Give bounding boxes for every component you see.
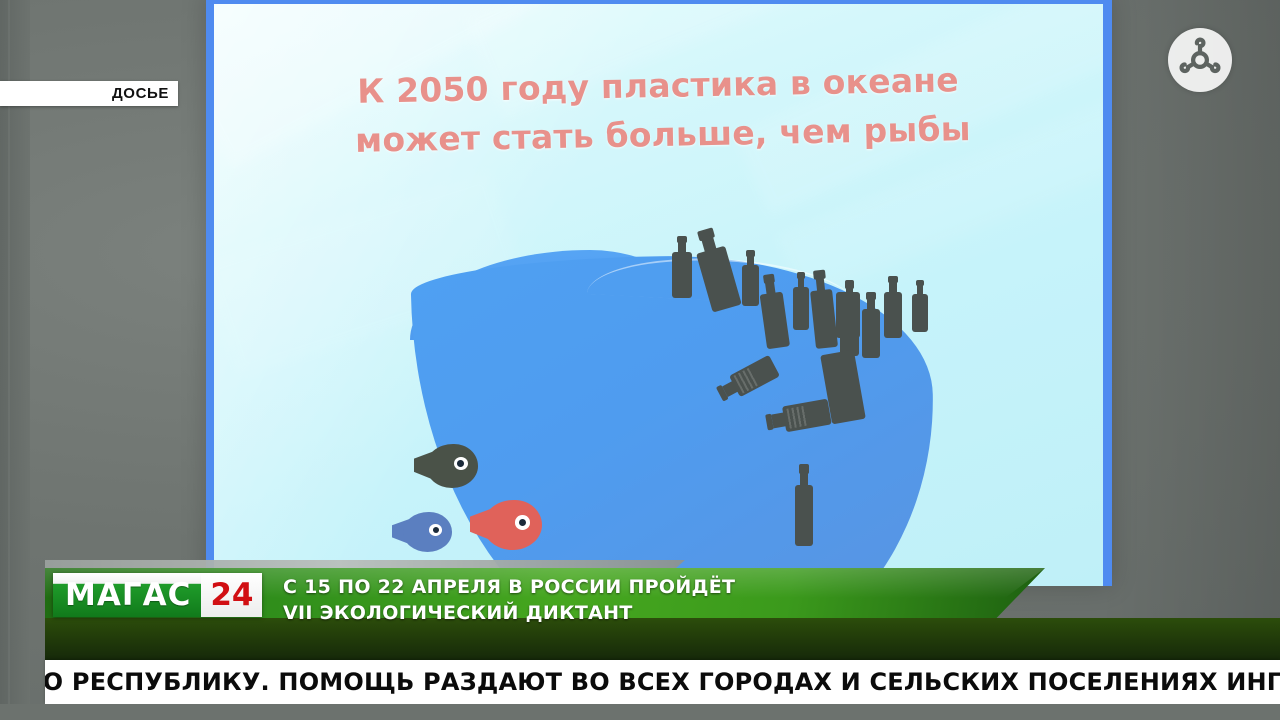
headline-line-1: С 15 ПО 22 АПРЕЛЯ В РОССИИ ПРОЙДЁТ	[283, 574, 1023, 600]
plastic-debris	[836, 292, 860, 338]
slide-headline-line1: К 2050 году пластика в океане	[357, 60, 959, 111]
slide-headline: К 2050 году пластика в океане может стат…	[214, 53, 1103, 168]
projection-surface: К 2050 году пластика в океане может стат…	[214, 4, 1103, 586]
plastic-bottle	[862, 292, 880, 358]
wall-seam	[8, 0, 10, 720]
broadcast-frame: К 2050 году пластика в океане может стат…	[0, 0, 1280, 720]
plastic-bottle	[793, 272, 809, 330]
plastic-bottle	[795, 464, 813, 546]
ticker-base-strip	[0, 704, 1280, 720]
news-ticker-text: Ю РЕСПУБЛИКУ. ПОМОЩЬ РАЗДАЮТ ВО ВСЕХ ГОР…	[45, 668, 1280, 696]
triskelion-circle-logo-icon	[1168, 28, 1232, 92]
plastic-bottle	[912, 280, 928, 332]
lower-third: МАГАС 24 С 15 ПО 22 АПРЕЛЯ В РОССИИ ПРОЙ…	[45, 560, 1280, 670]
dossier-badge-label: ДОСЬЕ	[112, 85, 178, 102]
news-ticker: Ю РЕСПУБЛИКУ. ПОМОЩЬ РАЗДАЮТ ВО ВСЕХ ГОР…	[45, 660, 1280, 704]
channel-logo-word-text: МАГАС	[65, 580, 191, 611]
channel-logo: МАГАС 24	[53, 573, 262, 617]
channel-logo-number: 24	[201, 573, 262, 617]
channel-logo-number-text: 24	[210, 580, 253, 611]
projection-screen: К 2050 году пластика в океане может стат…	[206, 0, 1112, 586]
channel-logo-word: МАГАС	[53, 573, 201, 617]
headline-line-2: VII ЭКОЛОГИЧЕСКИЙ ДИКТАНТ	[283, 600, 1023, 626]
fish	[414, 444, 478, 488]
plastic-bottle	[672, 236, 692, 298]
fish	[392, 512, 452, 552]
fish	[470, 500, 542, 550]
dossier-badge: ДОСЬЕ	[0, 81, 178, 106]
wall-shadow-left	[0, 0, 30, 720]
plastic-bottle	[884, 276, 902, 338]
headline-block: С 15 ПО 22 АПРЕЛЯ В РОССИИ ПРОЙДЁТ VII Э…	[283, 574, 1023, 626]
